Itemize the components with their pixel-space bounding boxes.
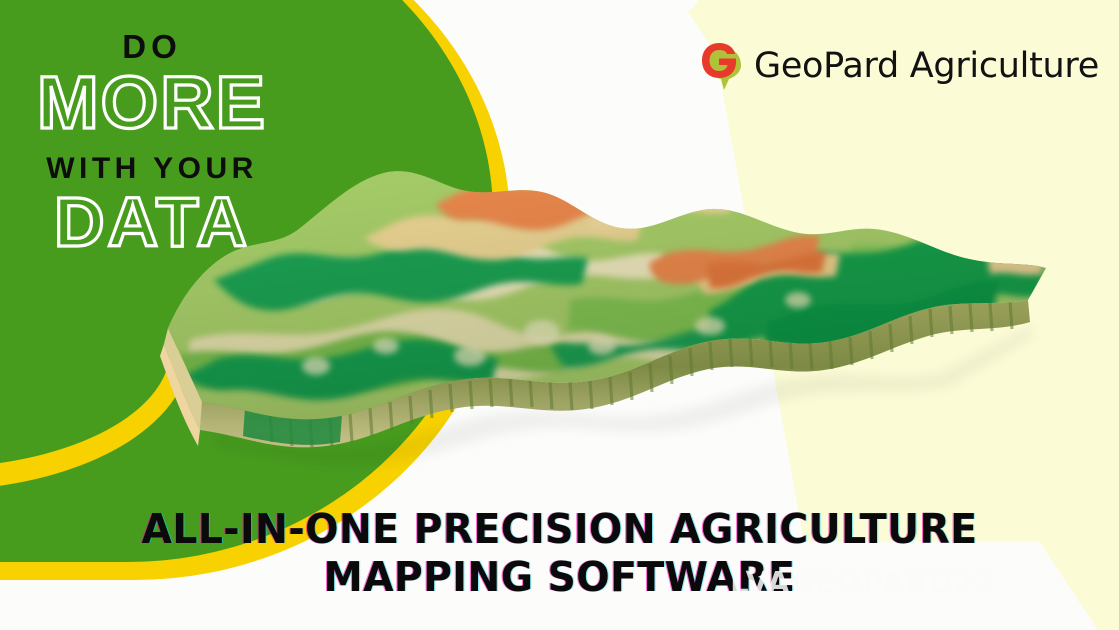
brand-logo[interactable]: GeoPard Agriculture — [700, 41, 1099, 91]
geopard-logo-svg — [700, 41, 744, 91]
lockup-line-do: DO — [22, 30, 282, 63]
lockup-line-more: MORE — [22, 67, 282, 140]
watermark: LVAGEOPARD23 — [730, 566, 996, 601]
geopard-pin-g-icon — [700, 41, 744, 91]
promo-banner: DO MORE WITH YOUR DATA — [0, 0, 1119, 630]
3d-terrain-map-illustration — [150, 150, 1050, 500]
brand-wordmark: GeoPard Agriculture — [754, 46, 1099, 86]
terrain-svg — [150, 150, 1050, 500]
